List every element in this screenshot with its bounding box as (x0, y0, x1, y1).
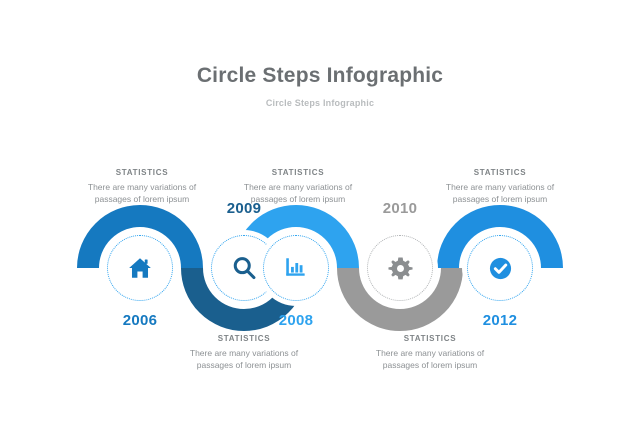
home-icon (102, 230, 178, 306)
bar-chart-icon (258, 230, 334, 306)
stats-line-1: There are many variations of (57, 181, 227, 193)
stats-line-1: There are many variations of (213, 181, 383, 193)
stats-line-2: passages of lorem ipsum (415, 193, 585, 205)
step-node-2010[interactable]: 2010 (362, 230, 438, 306)
stats-line-2: passages of lorem ipsum (159, 359, 329, 371)
year-label-2006: 2006 (80, 312, 200, 329)
year-label-2008: 2008 (236, 312, 356, 329)
gear-icon (362, 230, 438, 306)
stats-block-2: STATISTICS There are many variations of … (159, 334, 329, 372)
stats-heading: STATISTICS (415, 168, 585, 177)
stats-block-4: STATISTICS There are many variations of … (345, 334, 515, 372)
check-circle-icon (462, 230, 538, 306)
stats-line-1: There are many variations of (159, 347, 329, 359)
stats-heading: STATISTICS (159, 334, 329, 343)
step-node-2008[interactable]: 2008 (258, 230, 334, 306)
stats-heading: STATISTICS (57, 168, 227, 177)
stats-heading: STATISTICS (345, 334, 515, 343)
year-label-2012: 2012 (440, 312, 560, 329)
step-node-2012[interactable]: 2012 (462, 230, 538, 306)
page-title: Circle Steps Infographic (0, 64, 640, 88)
stats-block-5: STATISTICS There are many variations of … (415, 168, 585, 206)
infographic-canvas: Circle Steps Infographic Circle Steps In… (0, 0, 640, 443)
stats-line-2: passages of lorem ipsum (345, 359, 515, 371)
stats-line-1: There are many variations of (415, 181, 585, 193)
step-node-2006[interactable]: 2006 (102, 230, 178, 306)
stats-heading: STATISTICS (213, 168, 383, 177)
stats-line-1: There are many variations of (345, 347, 515, 359)
page-subtitle: Circle Steps Infographic (0, 98, 640, 108)
